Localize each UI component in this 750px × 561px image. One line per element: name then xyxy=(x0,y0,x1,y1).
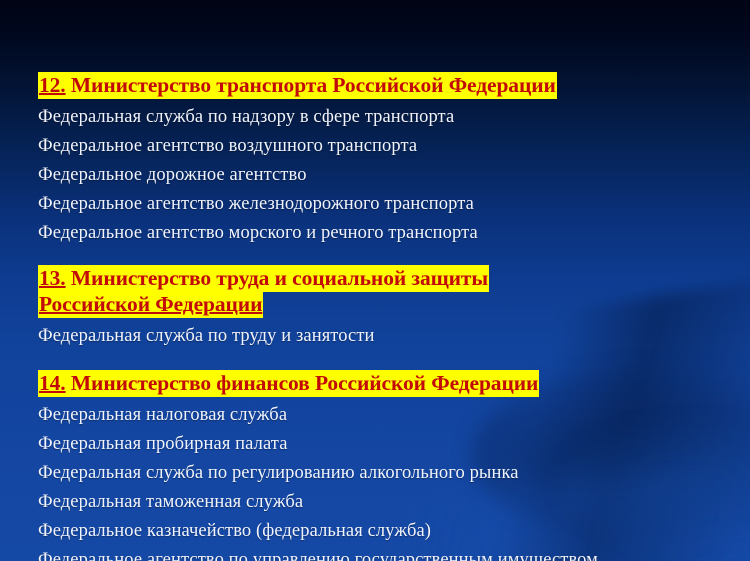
section-heading-13: 13. Министерство труда и социальной защи… xyxy=(38,265,740,317)
slide-canvas: 12. Министерство транспорта Российской Ф… xyxy=(0,0,750,561)
section-12: 12. Министерство транспорта Российской Ф… xyxy=(38,72,740,248)
section-number-13: 13. xyxy=(39,266,66,290)
list-item: Федеральная служба по труду и занятости xyxy=(38,322,740,351)
section-number-14: 14. xyxy=(39,371,66,395)
list-item: Федеральное агентство железнодорожного т… xyxy=(38,190,740,219)
section-14: 14. Министерство финансов Российской Фед… xyxy=(38,370,740,561)
section-title-12: Министерство транспорта Российской Федер… xyxy=(66,73,556,97)
list-item: Федеральная налоговая служба xyxy=(38,401,740,430)
list-item: Федеральное агентство морского и речного… xyxy=(38,219,740,248)
list-item: Федеральное агентство воздушного транспо… xyxy=(38,132,740,161)
section-heading-14: 14. Министерство финансов Российской Фед… xyxy=(38,370,740,396)
section-number-12: 12. xyxy=(39,73,66,97)
list-item: Федеральная служба по надзору в сфере тр… xyxy=(38,103,740,132)
section-heading-12: 12. Министерство транспорта Российской Ф… xyxy=(38,72,740,98)
list-item: Федеральная пробирная палата xyxy=(38,430,740,459)
list-item: Федеральное агентство по управлению госу… xyxy=(38,546,740,561)
section-title-13-line2: Российской Федерации xyxy=(39,292,262,316)
section-13: 13. Министерство труда и социальной защи… xyxy=(38,265,740,351)
list-item: Федеральное дорожное агентство xyxy=(38,161,740,190)
list-item: Федеральная таможенная служба xyxy=(38,488,740,517)
section-title-13: Министерство труда и социальной защиты xyxy=(66,266,489,290)
list-item: Федеральное казначейство (федеральная сл… xyxy=(38,517,740,546)
slide-content: 12. Министерство транспорта Российской Ф… xyxy=(38,72,740,561)
section-title-14: Министерство финансов Российской Федерац… xyxy=(66,371,539,395)
list-item: Федеральная служба по регулированию алко… xyxy=(38,459,740,488)
